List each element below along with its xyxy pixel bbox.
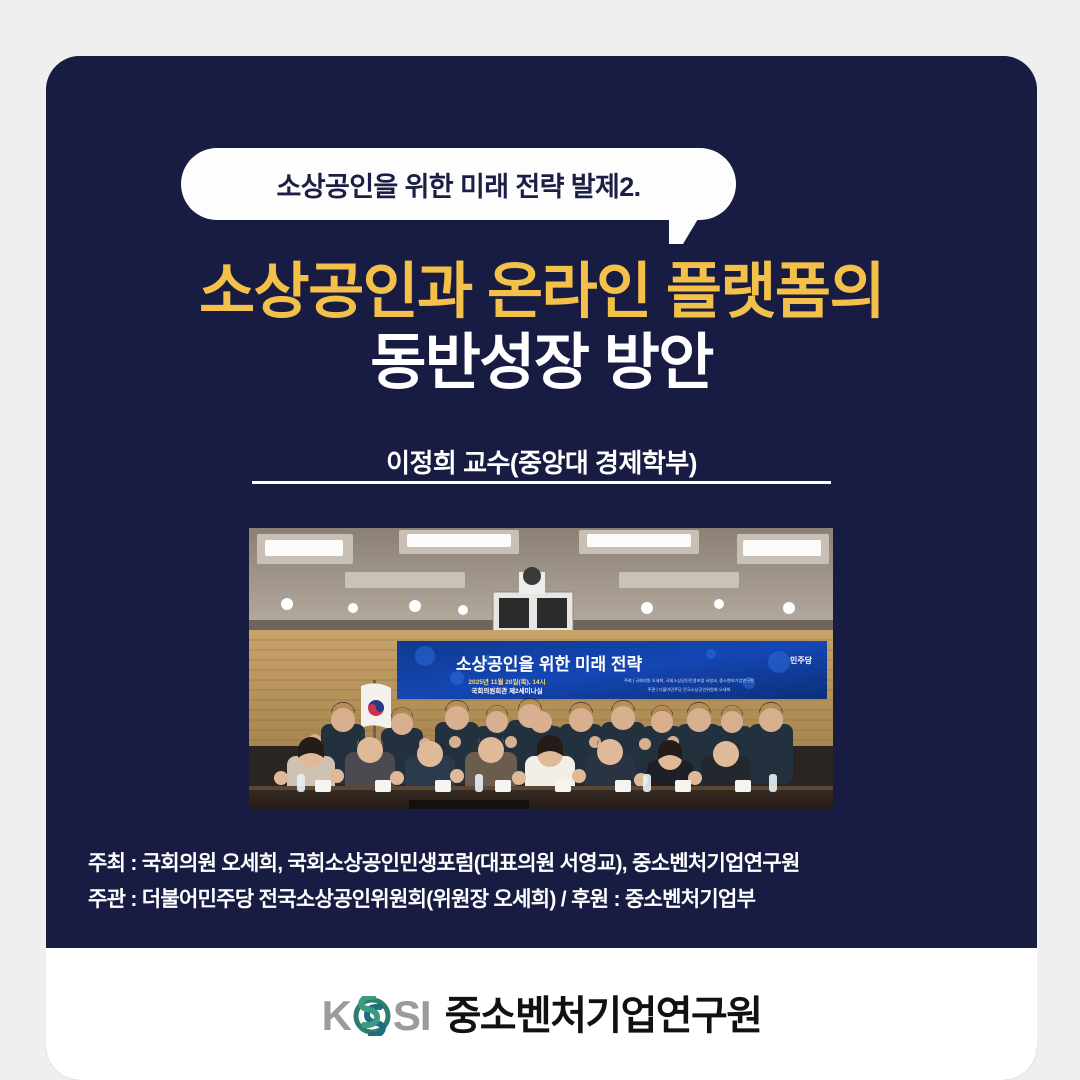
poster-footer: K SI 중소벤처기업연구원	[46, 948, 1037, 1080]
event-photo-illustration: 소상공인을 위한 미래 전략 2025년 11월 20일(목), 14시 국회의…	[249, 528, 833, 809]
title-divider	[252, 481, 831, 484]
svg-text:주최 | 국회의원 오세희, 국회소상공인민생포럼 서영교,: 주최 | 국회의원 오세희, 국회소상공인민생포럼 서영교, 중소벤처기업연구원	[624, 677, 754, 684]
page-title: 소상공인과 온라인 플랫폼의 동반성장 방안	[46, 256, 1037, 398]
credits: 주최 : 국회의원 오세희, 국회소상공인민생포럼(대표의원 서영교), 중소벤…	[88, 846, 998, 918]
speaker-name: 이정희 교수(중앙대 경제학부)	[46, 443, 1037, 480]
speech-bubble-label: 소상공인을 위한 미래 전략 발제2.	[276, 165, 640, 204]
session-badge: 소상공인을 위한 미래 전략 발제2.	[181, 148, 736, 220]
kosi-institute-name: 중소벤처기업연구원	[445, 996, 762, 1036]
page-title-line-1: 소상공인과 온라인 플랫폼의	[46, 256, 1037, 327]
kosi-swirl-icon	[352, 996, 392, 1036]
page-title-line-2: 동반성장 방안	[46, 327, 1037, 398]
svg-text:국회의원회관 제2세미나실: 국회의원회관 제2세미나실	[471, 686, 542, 695]
speech-bubble: 소상공인을 위한 미래 전략 발제2.	[181, 148, 736, 220]
event-photo: 소상공인을 위한 미래 전략 2025년 11월 20일(목), 14시 국회의…	[249, 528, 833, 809]
credits-line-1: 주최 : 국회의원 오세희, 국회소상공인민생포럼(대표의원 서영교), 중소벤…	[88, 846, 998, 882]
kosi-letter-k: K	[322, 995, 351, 1037]
poster-card-body: 소상공인을 위한 미래 전략 발제2. 소상공인과 온라인 플랫폼의 동반성장 …	[46, 56, 1037, 948]
poster-card: 소상공인을 위한 미래 전략 발제2. 소상공인과 온라인 플랫폼의 동반성장 …	[46, 56, 1037, 1080]
kosi-letters-si: SI	[393, 995, 431, 1037]
kosi-logo: K SI 중소벤처기업연구원	[322, 995, 762, 1037]
credits-line-2: 주관 : 더불어민주당 전국소상공인위원회(위원장 오세희) / 후원 : 중소…	[88, 882, 998, 918]
svg-text:주관 | 더불어민주당 전국소상공인위원회 오세희: 주관 | 더불어민주당 전국소상공인위원회 오세희	[648, 686, 731, 693]
svg-text:민주당: 민주당	[790, 655, 813, 665]
svg-text:소상공인을 위한 미래 전략: 소상공인을 위한 미래 전략	[456, 655, 643, 674]
kosi-wordmark: K SI	[322, 995, 431, 1037]
poster-canvas: 소상공인을 위한 미래 전략 발제2. 소상공인과 온라인 플랫폼의 동반성장 …	[0, 0, 1080, 1080]
speech-bubble-tail-icon	[669, 214, 701, 244]
svg-text:2025년 11월 20일(목), 14시: 2025년 11월 20일(목), 14시	[468, 677, 545, 686]
